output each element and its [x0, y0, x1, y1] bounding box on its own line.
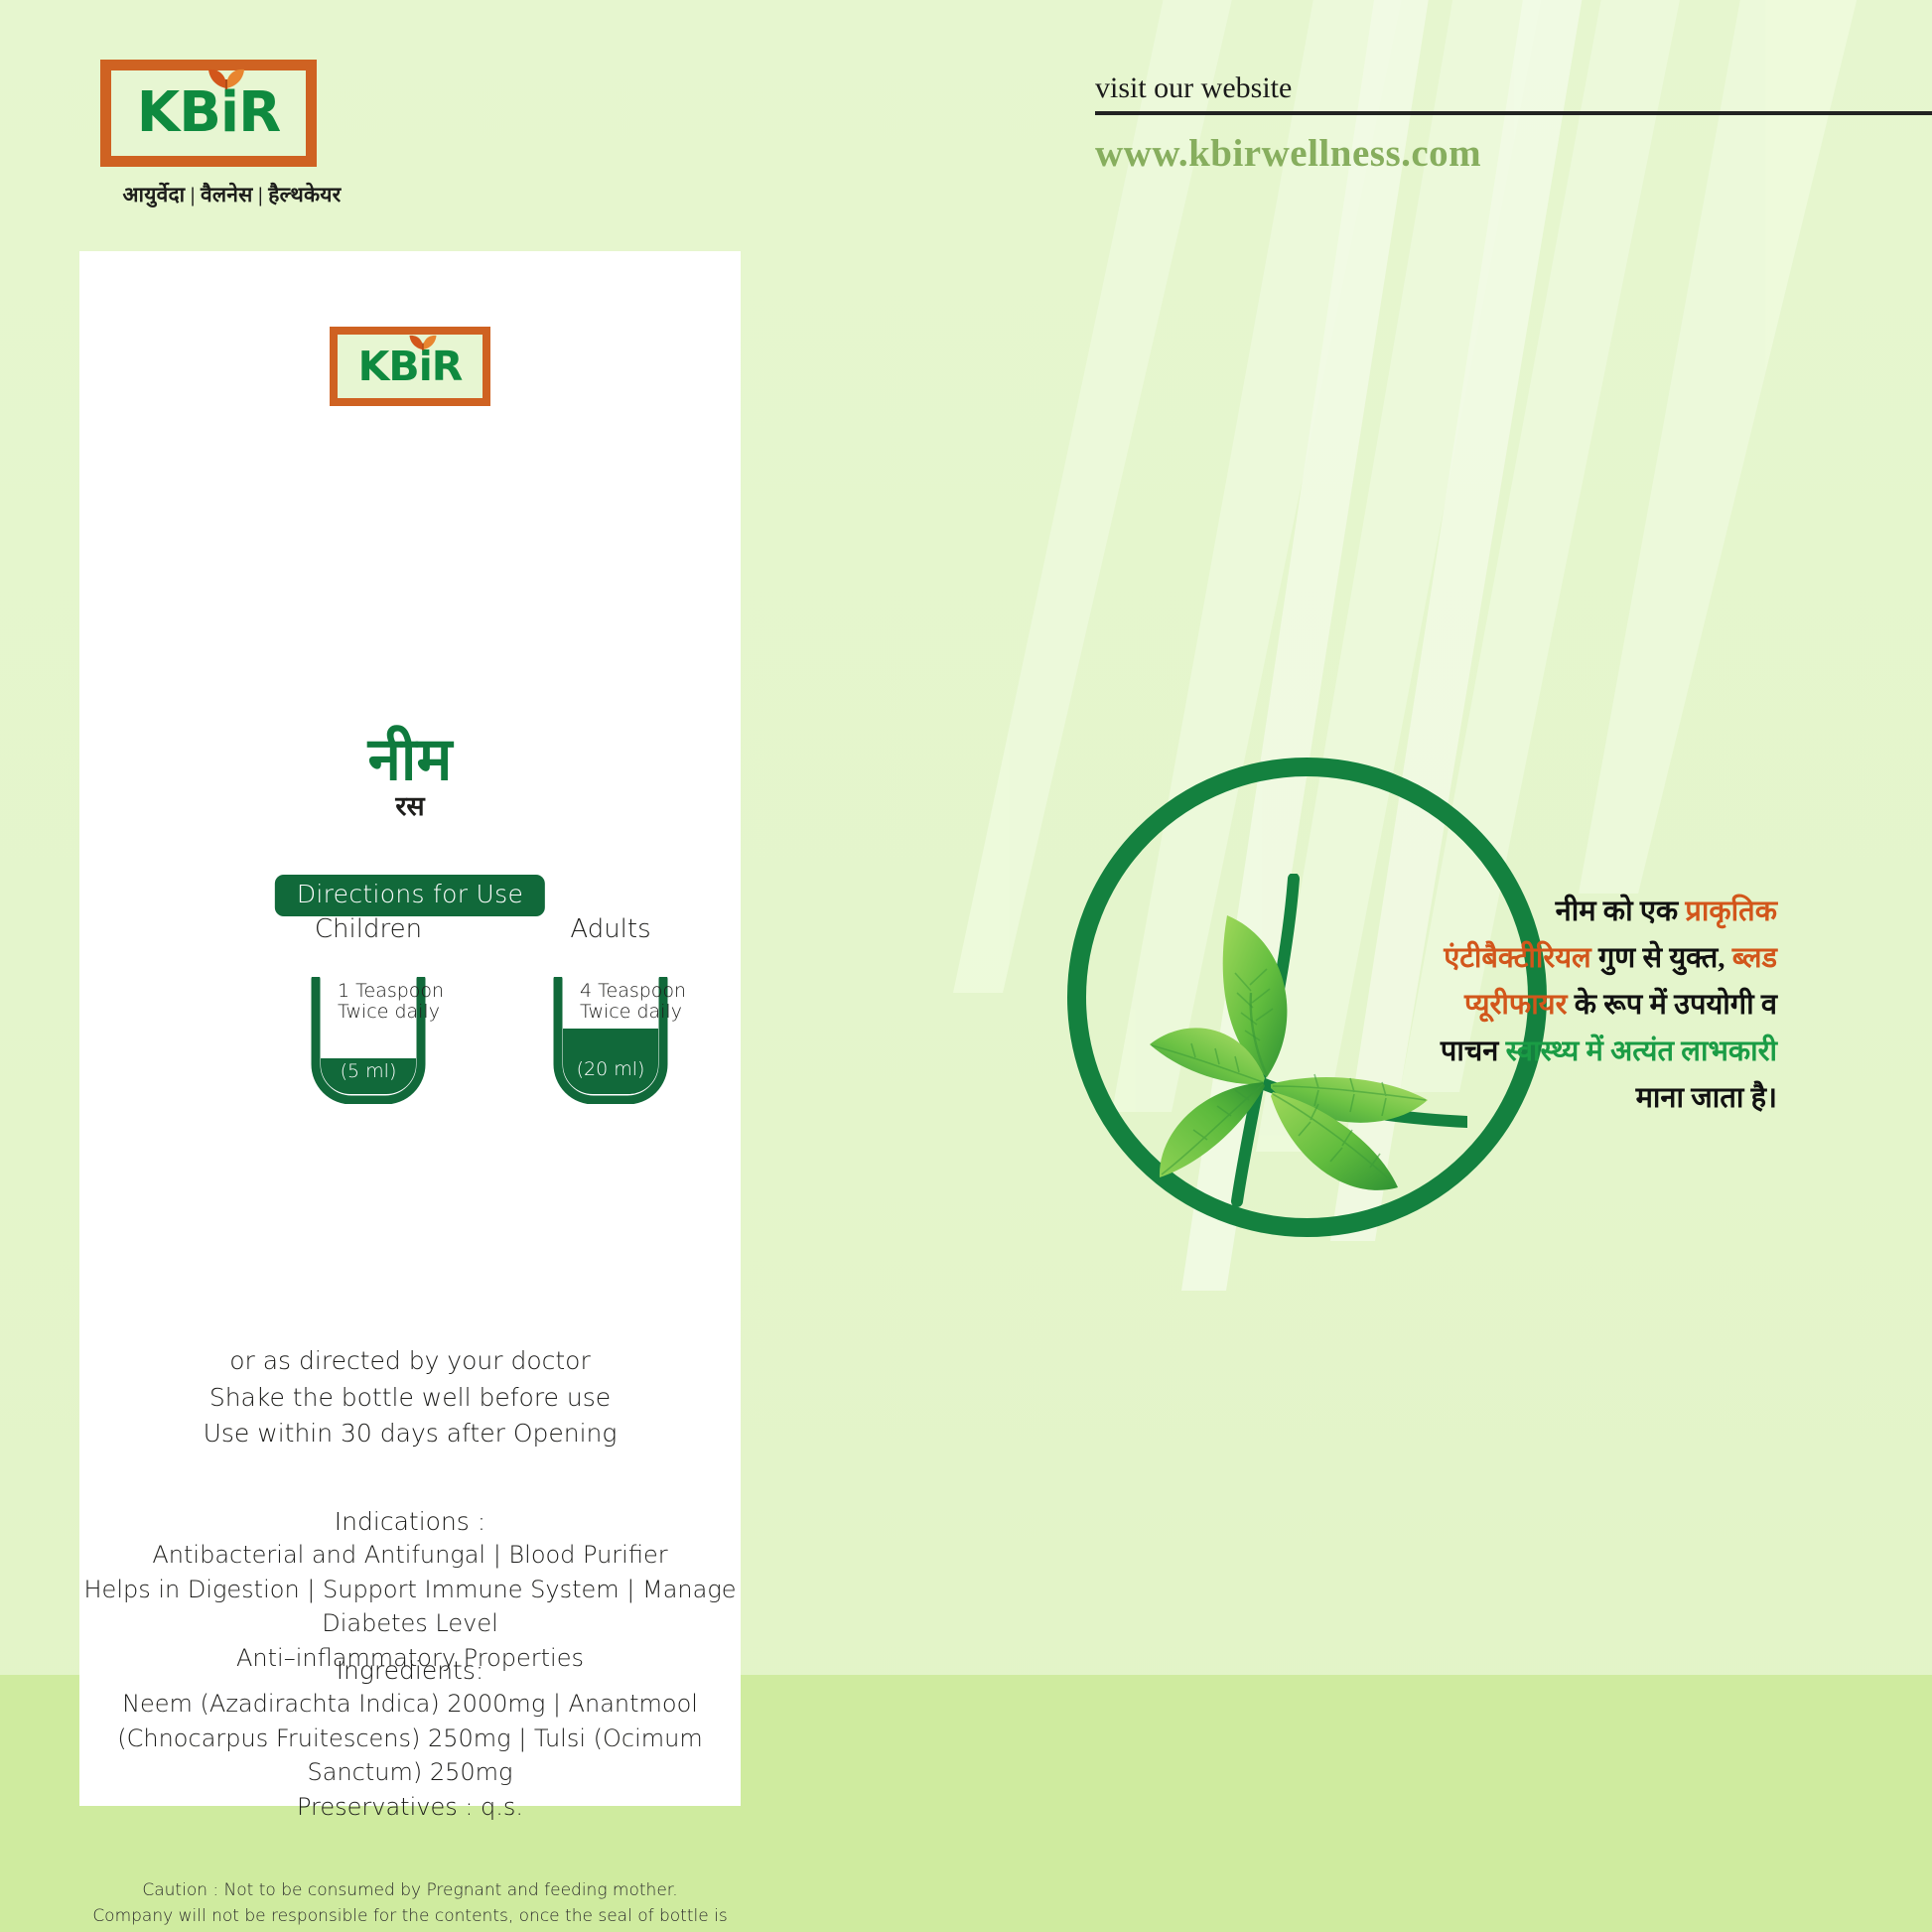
- dose-instruction: 1 Teaspoon Twice daily: [338, 981, 444, 1024]
- indications-line: Antibacterial and Antifungal | Blood Pur…: [79, 1538, 741, 1573]
- ingredients-line: Preservatives : q.s.: [79, 1790, 741, 1825]
- dose-audience: Adults: [486, 914, 735, 944]
- dose-column-children: Children 1 Teaspoon Twice daily (5 ml): [244, 914, 492, 1104]
- brand-logo: KBiR आयुर्वेदा | वैलनेस | हैल्थकेयर: [100, 60, 358, 208]
- highlight-segment: नीम को एक: [1556, 896, 1686, 927]
- website-divider: [1095, 111, 1932, 115]
- dose-column-adults: Adults 4 Teaspoon Twice daily (20 ml): [486, 914, 735, 1104]
- ingredients-body: Neem (Azadirachta Indica) 2000mg | Anant…: [79, 1687, 741, 1824]
- highlight-segment: माना जाता है।: [1636, 1082, 1777, 1114]
- dose-amount: 4 Teaspoon: [580, 981, 686, 1002]
- leaf-sprout-icon: [207, 66, 246, 89]
- highlight-segment: गुण से युक्त,: [1591, 942, 1732, 974]
- dose-frequency: Twice daily: [580, 1002, 686, 1023]
- usage-line: or as directed by your doctor: [79, 1343, 741, 1380]
- indications-heading: Indications :: [79, 1507, 741, 1536]
- caution-line: Company will not be responsible for the …: [79, 1903, 741, 1932]
- dose-volume: (5 ml): [308, 1060, 429, 1082]
- ingredients-heading: Ingredients:: [79, 1656, 741, 1685]
- highlight-segment: स्वास्थ्य में अत्यंत लाभकारी: [1506, 1035, 1777, 1067]
- product-title: नीम रस: [79, 730, 741, 820]
- label-wordmark: KBiR: [358, 346, 463, 387]
- indications-section: Indications : Antibacterial and Antifung…: [79, 1507, 741, 1675]
- website-url[interactable]: www.kbirwellness.com: [1095, 131, 1932, 176]
- ingredients-section: Ingredients: Neem (Azadirachta Indica) 2…: [79, 1656, 741, 1824]
- indications-line: Helps in Digestion | Support Immune Syst…: [79, 1573, 741, 1641]
- dose-audience: Children: [244, 914, 492, 944]
- brand-name-prefix: KB: [137, 80, 220, 145]
- leaf-sprout-icon: [408, 333, 438, 350]
- dose-instruction: 4 Teaspoon Twice daily: [580, 981, 686, 1024]
- ingredients-line: (Chnocarpus Fruitescens) 250mg | Tulsi (…: [79, 1722, 741, 1790]
- usage-instructions: or as directed by your doctor Shake the …: [79, 1343, 741, 1452]
- usage-line: Shake the bottle well before use: [79, 1380, 741, 1417]
- dose-volume: (20 ml): [550, 1058, 671, 1080]
- product-name: नीम: [79, 730, 741, 789]
- ingredients-line: Neem (Azadirachta Indica) 2000mg | Anant…: [79, 1687, 741, 1722]
- highlight-segment: प्राकृतिक: [1685, 896, 1777, 927]
- brand-tagline: आयुर्वेदा | वैलनेस | हैल्थकेयर: [100, 181, 363, 208]
- directions-badge: Directions for Use: [275, 875, 545, 916]
- label-logo-box: KBiR: [330, 327, 490, 406]
- indications-body: Antibacterial and Antifungal | Blood Pur…: [79, 1538, 741, 1675]
- website-block: visit our website www.kbirwellness.com: [1095, 71, 1932, 176]
- caution-note: Caution : Not to be consumed by Pregnant…: [79, 1877, 741, 1932]
- measuring-cup-icon: 4 Teaspoon Twice daily (20 ml): [550, 977, 671, 1104]
- measuring-cup-icon: 1 Teaspoon Twice daily (5 ml): [308, 977, 429, 1104]
- product-label-card: KBiR नीम रस Directions for Use Children: [79, 251, 741, 1806]
- poster-canvas: KBiR आयुर्वेदा | वैलनेस | हैल्थकेयर visi…: [0, 0, 1932, 1932]
- brand-name-i: i: [220, 80, 238, 145]
- highlight-segment: एंटीबैक्टीरियल: [1444, 942, 1591, 974]
- website-prompt: visit our website: [1095, 71, 1932, 104]
- brand-name-suffix: R: [238, 80, 280, 145]
- product-type: रस: [79, 793, 741, 820]
- neem-leaves-icon: [1140, 874, 1467, 1211]
- caution-line: Caution : Not to be consumed by Pregnant…: [79, 1877, 741, 1903]
- usage-line: Use within 30 days after Opening: [79, 1416, 741, 1452]
- brand-wordmark: KBiR: [137, 85, 280, 141]
- dose-amount: 1 Teaspoon: [338, 981, 444, 1002]
- highlight-text: नीम को एक प्राकृतिक एंटीबैक्टीरियल गुण स…: [1420, 889, 1777, 1122]
- dose-frequency: Twice daily: [338, 1002, 444, 1023]
- brand-logo-box: KBiR: [100, 60, 317, 167]
